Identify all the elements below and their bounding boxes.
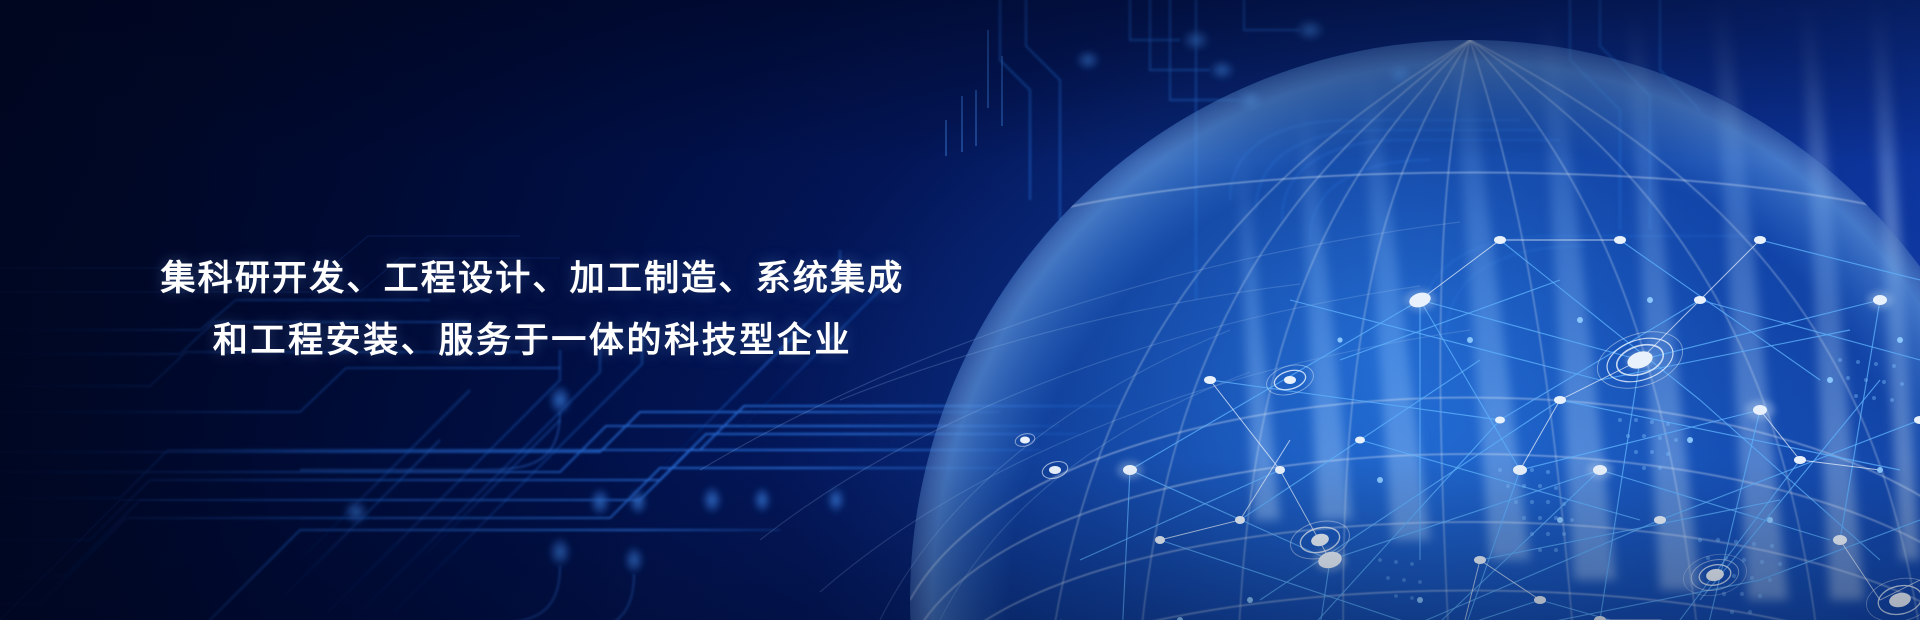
headline-block: 集科研开发、工程设计、加工制造、系统集成 和工程安装、服务于一体的科技型企业 xyxy=(0,248,1065,372)
headline-line-1: 集科研开发、工程设计、加工制造、系统集成 xyxy=(0,248,1065,310)
headline-line-2: 和工程安装、服务于一体的科技型企业 xyxy=(0,310,1065,372)
hero-banner: 集科研开发、工程设计、加工制造、系统集成 和工程安装、服务于一体的科技型企业 xyxy=(0,0,1920,620)
